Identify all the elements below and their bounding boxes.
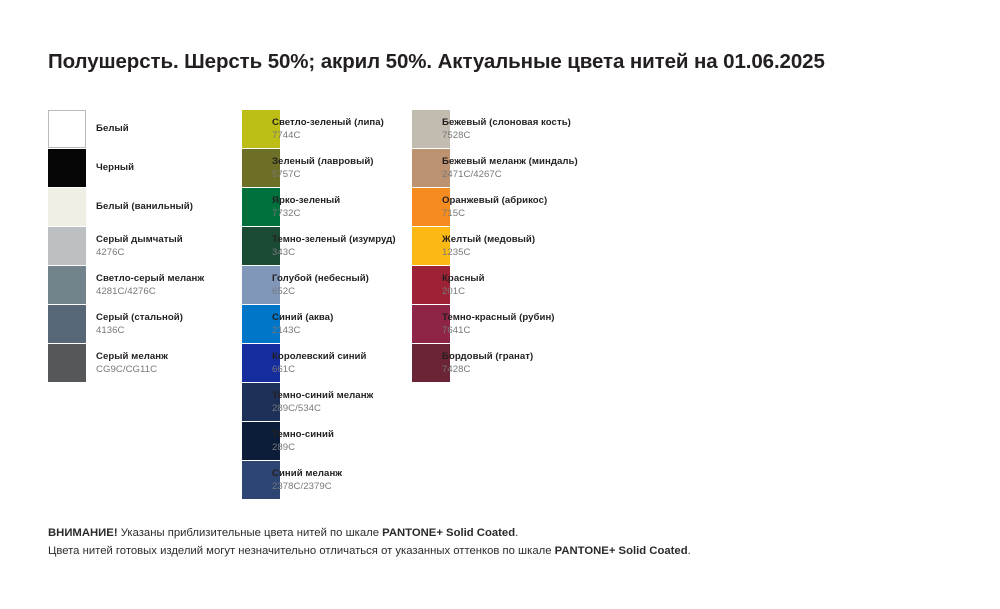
swatch-name: Синий меланж	[272, 468, 342, 479]
footer-line-2-scale: PANTONE+ Solid Coated	[555, 545, 688, 557]
swatch-row[interactable]: Светло-зеленый (липа)7744C	[242, 110, 412, 149]
swatch-name: Белый	[96, 123, 129, 134]
swatch-labels: Белый (ванильный)	[96, 188, 193, 226]
swatch-row[interactable]: Серый (стальной)4136C	[48, 305, 248, 344]
swatch-column-1: Светло-зеленый (липа)7744CЗеленый (лавро…	[242, 110, 412, 500]
color-chip[interactable]	[48, 227, 86, 265]
swatch-labels: Оранжевый (абрикос)715C	[442, 188, 547, 226]
swatch-row[interactable]: Белый (ванильный)	[48, 188, 248, 227]
footer-line-1-scale: PANTONE+ Solid Coated	[382, 527, 515, 539]
swatch-name: Красный	[442, 273, 485, 284]
swatch-name: Синий (аква)	[272, 312, 333, 323]
swatch-code: 7528C	[442, 130, 571, 141]
swatch-labels: Зеленый (лавровый)5757C	[272, 149, 374, 187]
swatch-name: Бежевый (слоновая кость)	[442, 117, 571, 128]
page-title: Полушерсть. Шерсть 50%; акрил 50%. Актуа…	[48, 50, 825, 74]
swatch-code: 7641C	[442, 325, 555, 336]
swatch-code: 4136C	[96, 325, 183, 336]
swatch-name: Светло-серый меланж	[96, 273, 204, 284]
attention-label: ВНИМАНИЕ!	[48, 527, 118, 539]
swatch-row[interactable]: Серый дымчатый4276C	[48, 227, 248, 266]
swatch-code: 201C	[442, 286, 485, 297]
swatch-labels: Синий меланж2378C/2379C	[272, 461, 342, 499]
swatch-code: CG9C/CG11C	[96, 364, 168, 375]
swatch-labels: Голубой (небесный)652C	[272, 266, 369, 304]
swatch-labels: Светло-зеленый (липа)7744C	[272, 110, 384, 148]
swatch-code: 2471C/4267C	[442, 169, 578, 180]
swatch-row[interactable]: Королевский синий661C	[242, 344, 412, 383]
footer-note: ВНИМАНИЕ! Указаны приблизительные цвета …	[48, 524, 948, 561]
swatch-code: 652C	[272, 286, 369, 297]
color-chip[interactable]	[48, 344, 86, 382]
color-card-page: Полушерсть. Шерсть 50%; акрил 50%. Актуа…	[0, 0, 1000, 609]
swatch-name: Белый (ванильный)	[96, 201, 193, 212]
swatch-code: 5757C	[272, 169, 374, 180]
swatch-code: 661C	[272, 364, 366, 375]
footer-line-2-text: Цвета нитей готовых изделий могут незнач…	[48, 545, 555, 557]
swatch-labels: Темно-зеленый (изумруд)343C	[272, 227, 396, 265]
swatch-labels: Темно-синий289C	[272, 422, 334, 460]
swatch-name: Темно-зеленый (изумруд)	[272, 234, 396, 245]
swatch-labels: Темно-синий меланж289C/534C	[272, 383, 373, 421]
swatch-name: Черный	[96, 162, 134, 173]
swatch-labels: Черный	[96, 149, 134, 187]
swatch-code: 2378C/2379C	[272, 481, 342, 492]
swatch-row[interactable]: Светло-серый меланж4281C/4276C	[48, 266, 248, 305]
swatch-name: Желтый (медовый)	[442, 234, 535, 245]
swatch-name: Светло-зеленый (липа)	[272, 117, 384, 128]
swatch-row[interactable]: Голубой (небесный)652C	[242, 266, 412, 305]
swatch-code: 4281C/4276C	[96, 286, 204, 297]
swatch-name: Зеленый (лавровый)	[272, 156, 374, 167]
swatch-labels: Желтый (медовый)1235C	[442, 227, 535, 265]
swatch-row[interactable]: Желтый (медовый)1235C	[412, 227, 672, 266]
footer-line-2: Цвета нитей готовых изделий могут незнач…	[48, 542, 948, 560]
swatch-code: 7428C	[442, 364, 533, 375]
swatch-row[interactable]: Ярко-зеленый7732C	[242, 188, 412, 227]
swatch-code: 289C/534C	[272, 403, 373, 414]
swatch-row[interactable]: Темно-зеленый (изумруд)343C	[242, 227, 412, 266]
swatch-name: Серый дымчатый	[96, 234, 183, 245]
swatch-row[interactable]: Темно-красный (рубин)7641C	[412, 305, 672, 344]
swatch-row[interactable]: Белый	[48, 110, 248, 149]
swatch-column-2: Бежевый (слоновая кость)7528CБежевый мел…	[412, 110, 672, 383]
swatch-row[interactable]: Синий меланж2378C/2379C	[242, 461, 412, 500]
footer-line-2-end: .	[688, 545, 691, 557]
swatch-row[interactable]: Оранжевый (абрикос)715C	[412, 188, 672, 227]
swatch-name: Голубой (небесный)	[272, 273, 369, 284]
swatch-name: Темно-синий	[272, 429, 334, 440]
swatch-labels: Красный201C	[442, 266, 485, 304]
swatch-name: Бежевый меланж (миндаль)	[442, 156, 578, 167]
swatch-code: 4276C	[96, 247, 183, 258]
swatch-row[interactable]: Серый меланжCG9C/CG11C	[48, 344, 248, 383]
footer-line-1-text: Указаны приблизительные цвета нитей по ш…	[118, 527, 383, 539]
swatch-labels: Темно-красный (рубин)7641C	[442, 305, 555, 343]
swatch-column-0: БелыйЧерныйБелый (ванильный)Серый дымчат…	[48, 110, 248, 383]
swatch-row[interactable]: Зеленый (лавровый)5757C	[242, 149, 412, 188]
swatch-name: Серый (стальной)	[96, 312, 183, 323]
swatch-name: Темно-красный (рубин)	[442, 312, 555, 323]
swatch-labels: Королевский синий661C	[272, 344, 366, 382]
swatch-code: 7744C	[272, 130, 384, 141]
swatch-row[interactable]: Черный	[48, 149, 248, 188]
swatch-code: 2143C	[272, 325, 333, 336]
swatch-name: Бордовый (гранат)	[442, 351, 533, 362]
swatch-name: Темно-синий меланж	[272, 390, 373, 401]
swatch-row[interactable]: Бежевый (слоновая кость)7528C	[412, 110, 672, 149]
swatch-row[interactable]: Бежевый меланж (миндаль)2471C/4267C	[412, 149, 672, 188]
swatch-code: 289C	[272, 442, 334, 453]
swatch-row[interactable]: Темно-синий289C	[242, 422, 412, 461]
color-chip[interactable]	[48, 305, 86, 343]
swatch-labels: Серый (стальной)4136C	[96, 305, 183, 343]
swatch-labels: Бежевый (слоновая кость)7528C	[442, 110, 571, 148]
footer-line-1-end: .	[515, 527, 518, 539]
swatch-name: Королевский синий	[272, 351, 366, 362]
swatch-labels: Бежевый меланж (миндаль)2471C/4267C	[442, 149, 578, 187]
swatch-labels: Серый меланжCG9C/CG11C	[96, 344, 168, 382]
swatch-row[interactable]: Темно-синий меланж289C/534C	[242, 383, 412, 422]
swatch-name: Серый меланж	[96, 351, 168, 362]
swatch-labels: Бордовый (гранат)7428C	[442, 344, 533, 382]
swatch-code: 715C	[442, 208, 547, 219]
swatch-row[interactable]: Синий (аква)2143C	[242, 305, 412, 344]
swatch-name: Оранжевый (абрикос)	[442, 195, 547, 206]
swatch-labels: Светло-серый меланж4281C/4276C	[96, 266, 204, 304]
color-chip[interactable]	[48, 149, 86, 187]
swatch-row[interactable]: Бордовый (гранат)7428C	[412, 344, 672, 383]
swatch-labels: Серый дымчатый4276C	[96, 227, 183, 265]
swatch-code: 343C	[272, 247, 396, 258]
color-chip[interactable]	[48, 188, 86, 226]
swatch-code: 1235C	[442, 247, 535, 258]
swatch-row[interactable]: Красный201C	[412, 266, 672, 305]
color-chip[interactable]	[48, 110, 86, 148]
swatch-labels: Белый	[96, 110, 129, 148]
footer-line-1: ВНИМАНИЕ! Указаны приблизительные цвета …	[48, 524, 948, 542]
color-chip[interactable]	[48, 266, 86, 304]
swatch-name: Ярко-зеленый	[272, 195, 340, 206]
swatch-labels: Синий (аква)2143C	[272, 305, 333, 343]
swatch-code: 7732C	[272, 208, 340, 219]
swatch-labels: Ярко-зеленый7732C	[272, 188, 340, 226]
